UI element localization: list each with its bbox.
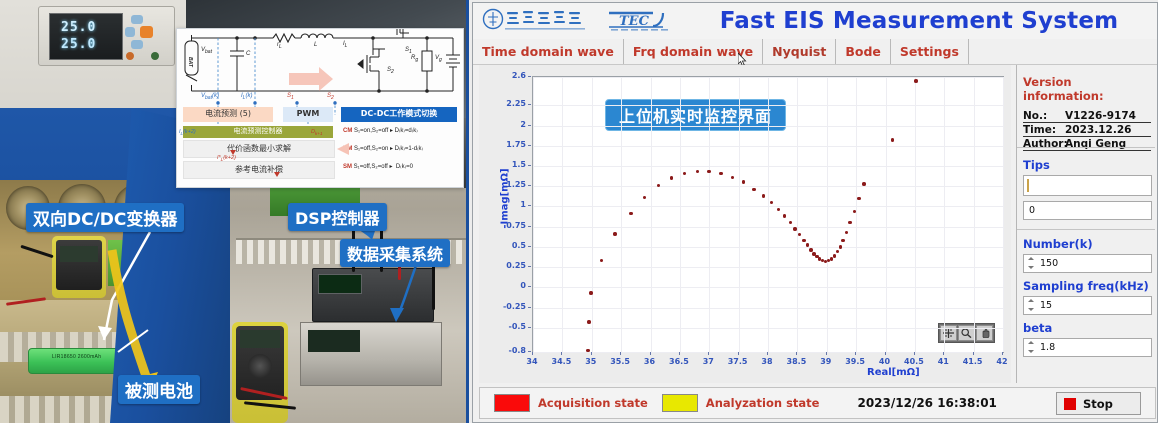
grid-line-vertical (1003, 77, 1004, 352)
spinner-icon[interactable] (1026, 298, 1036, 312)
grid-line-horizontal (533, 267, 1003, 268)
nyquist-plot-panel: -Imag[mΩ] 上位机实时监控界面 (479, 65, 1011, 383)
settings-sidebar: Version information: No.: V1226-9174 Tim… (1016, 65, 1155, 383)
tips-secondary-value: 0 (1024, 205, 1035, 216)
data-point (848, 221, 852, 225)
x-axis-tick-mark (738, 352, 739, 355)
lab-setup-photo: 25.0 25.0 LIR18650 2600mAh (0, 0, 466, 423)
grid-line-vertical (915, 77, 916, 352)
grid-line-vertical (709, 77, 710, 352)
grid-line-vertical (680, 77, 681, 352)
grid-line-vertical (768, 77, 769, 352)
grid-line-horizontal (533, 146, 1003, 147)
x-axis-tick-label: 38.5 (782, 357, 810, 366)
y-axis-tick-mark (528, 246, 531, 247)
y-axis-tick-mark (528, 266, 531, 267)
acquisition-state-label: Acquisition state (538, 396, 648, 410)
eis-software-window: TEC Fast EIS Measurement System Time dom… (466, 0, 1158, 423)
data-point (719, 172, 723, 176)
x-axis-tick-label: 39.5 (841, 357, 869, 366)
sampling-freq-input[interactable]: 15 (1023, 296, 1152, 315)
data-point (731, 176, 735, 180)
y-axis-tick-mark (528, 104, 531, 105)
beta-value: 1.8 (1040, 342, 1055, 353)
y-axis-tick-label: 1.75 (479, 140, 526, 149)
y-axis-tick-mark (528, 76, 531, 77)
tab-bar[interactable]: Time domain wave Frq domain wave Nyquist… (473, 39, 1157, 65)
y-axis-tick-mark (528, 327, 531, 328)
grid-line-vertical (944, 77, 945, 352)
bench-multimeter-screen (240, 330, 280, 348)
spinner-icon[interactable] (1026, 340, 1036, 354)
version-key-author: Author: (1023, 138, 1065, 150)
spinner-icon[interactable] (1026, 256, 1036, 270)
grid-line-vertical (621, 77, 622, 352)
grid-line-vertical (739, 77, 740, 352)
data-point (683, 172, 687, 176)
y-axis-tick-label: 1.5 (479, 160, 526, 169)
y-axis-tick-label: 0.25 (479, 261, 526, 270)
y-axis-tick-mark (528, 226, 531, 227)
x-axis-tick-mark (532, 352, 533, 355)
grid-line-vertical (533, 77, 534, 352)
screenshot-root: 25.0 25.0 LIR18650 2600mAh (0, 0, 1158, 423)
x-axis-tick-label: 34.5 (547, 357, 575, 366)
param-label-number: Number(k) (1023, 237, 1151, 251)
y-axis-tick-mark (528, 145, 531, 146)
grid-line-vertical (856, 77, 857, 352)
number-k-value: 150 (1040, 258, 1058, 269)
data-point (589, 291, 593, 295)
y-axis-tick-mark (528, 185, 531, 186)
x-axis-tick-mark (591, 352, 592, 355)
x-axis-tick-label: 35 (577, 357, 605, 366)
x-axis-tick-label: 37 (694, 357, 722, 366)
x-axis-tick-mark (1002, 352, 1003, 355)
grid-line-vertical (592, 77, 593, 352)
battery-cell-print: LIR18650 2600mAh (52, 354, 101, 360)
stop-button-label: Stop (1083, 397, 1113, 411)
y-axis-tick-label: -0.8 (479, 346, 526, 355)
data-point (777, 208, 781, 212)
y-axis-tick-label: 1.25 (479, 180, 526, 189)
x-axis-tick-mark (767, 352, 768, 355)
data-point (914, 79, 918, 83)
x-axis-tick-mark (679, 352, 680, 355)
grid-line-horizontal (533, 227, 1003, 228)
data-point (789, 221, 793, 225)
controller-indicator-1 (126, 52, 134, 60)
beta-input[interactable]: 1.8 (1023, 338, 1152, 357)
data-point (783, 214, 787, 218)
data-point (629, 212, 633, 216)
param-label-sampling-freq: Sampling freq(kHz) (1023, 279, 1151, 293)
acquisition-state-indicator (494, 394, 530, 412)
x-axis-tick-label: 42 (988, 357, 1016, 366)
stop-button[interactable]: Stop (1056, 392, 1141, 415)
data-point (802, 239, 806, 243)
version-row-time: Time: 2023.12.26 (1023, 124, 1151, 137)
stop-square-icon (1064, 398, 1076, 410)
x-axis-tick-label: 41.5 (959, 357, 987, 366)
data-point (613, 232, 617, 236)
data-point (845, 231, 849, 235)
y-axis-tick-mark (528, 165, 531, 166)
y-axis-tick-mark (528, 125, 531, 126)
data-point (586, 349, 590, 353)
y-axis-tick-label: -0.25 (479, 302, 526, 311)
tips-caret-icon (1027, 179, 1029, 192)
data-point (836, 250, 840, 254)
label-data-acquisition-system: 数据采集系统 (340, 239, 450, 267)
grid-line-vertical (651, 77, 652, 352)
app-header: TEC Fast EIS Measurement System (473, 3, 1157, 40)
y-axis-tick-mark (528, 307, 531, 308)
y-axis-tick-mark (528, 205, 531, 206)
grid-line-horizontal (533, 105, 1003, 106)
data-point (587, 320, 591, 324)
daq-instrument-display (308, 330, 360, 352)
tab-bode[interactable]: Bode (836, 39, 891, 64)
plot-toolbar[interactable] (938, 323, 995, 343)
tec-center-logo-icon: TEC (607, 8, 699, 34)
control-diagram-overlay: BAT Vbat C rL L IL S2 S1 Rg Vg Vbat(k) I… (176, 28, 464, 188)
grid-line-horizontal (533, 328, 1003, 329)
grid-line-horizontal (533, 308, 1003, 309)
status-bar: Acquisition state Analyzation state 2023… (479, 387, 1156, 419)
x-axis-tick-mark (943, 352, 944, 355)
controller-left-button (125, 27, 135, 37)
chamber-multimeter-screen (60, 246, 98, 262)
x-axis-tick-label: 37.5 (724, 357, 752, 366)
data-point (833, 254, 837, 258)
y-axis-label: -Imag[mΩ] (500, 168, 511, 228)
x-axis-tick-mark (650, 352, 651, 355)
data-point (841, 239, 845, 243)
data-point (600, 259, 604, 263)
data-point (839, 245, 843, 249)
y-axis-tick-label: 2.6 (479, 71, 526, 80)
version-key-no: No.: (1023, 110, 1065, 122)
tab-settings[interactable]: Settings (891, 39, 969, 64)
version-value-no: V1226-9174 (1065, 110, 1136, 122)
battery-cell (28, 348, 125, 374)
diagram-connectors (177, 29, 463, 187)
data-point (696, 170, 700, 174)
analyzation-state-label: Analyzation state (706, 396, 820, 410)
x-axis-tick-label: 36 (636, 357, 664, 366)
y-axis-tick-label: 2 (479, 120, 526, 129)
controller-enter-button (140, 26, 153, 38)
temperature-controller: 25.0 25.0 (38, 6, 175, 66)
grid-line-horizontal (533, 126, 1003, 127)
label-battery-under-test: 被测电池 (118, 375, 200, 404)
x-axis-tick-label: 38 (753, 357, 781, 366)
tab-nyquist[interactable]: Nyquist (763, 39, 836, 64)
grid-line-vertical (797, 77, 798, 352)
data-point (830, 257, 834, 261)
data-point (891, 138, 895, 142)
data-point (770, 201, 774, 205)
version-value-author: Anqi Geng (1065, 138, 1126, 150)
data-point (707, 170, 711, 174)
x-axis-tick-label: 41 (929, 357, 957, 366)
grid-line-vertical (562, 77, 563, 352)
grid-line-horizontal (533, 166, 1003, 167)
data-point (793, 227, 797, 231)
version-information-header: Version information: (1023, 75, 1151, 103)
university-logo-icon (481, 8, 599, 34)
x-axis-tick-mark (796, 352, 797, 355)
controller-setpoint: 25.0 (61, 20, 96, 35)
version-row-no: No.: V1226-9174 (1023, 110, 1151, 123)
tab-time-domain-wave[interactable]: Time domain wave (473, 39, 624, 64)
label-dsp-controller: DSP控制器 (288, 203, 387, 231)
x-axis-tick-mark (620, 352, 621, 355)
x-axis-tick-mark (885, 352, 886, 355)
y-axis-tick-mark (528, 286, 531, 287)
number-k-input[interactable]: 150 (1023, 254, 1152, 273)
x-axis-tick-mark (973, 352, 974, 355)
x-axis-tick-label: 40.5 (900, 357, 928, 366)
grid-line-vertical (886, 77, 887, 352)
sidebar-divider-1 (1017, 147, 1155, 148)
version-row-author: Author: Anqi Geng (1023, 138, 1151, 151)
param-label-beta: beta (1023, 321, 1151, 335)
version-value-time: 2023.12.26 (1065, 124, 1131, 136)
tips-secondary-input[interactable]: 0 (1023, 201, 1152, 220)
x-axis-tick-mark (826, 352, 827, 355)
data-point (806, 243, 810, 247)
data-point (798, 233, 802, 237)
x-axis-tick-mark (708, 352, 709, 355)
data-point (670, 176, 674, 180)
controller-up-button (131, 15, 143, 24)
data-point (742, 180, 746, 184)
y-axis-tick-label: 0 (479, 281, 526, 290)
grid-line-horizontal (533, 287, 1003, 288)
data-point (862, 182, 866, 186)
sampling-freq-value: 15 (1040, 300, 1052, 311)
grid-line-vertical (974, 77, 975, 352)
data-point (643, 196, 647, 200)
y-axis-tick-label: 0.75 (479, 221, 526, 230)
y-axis-tick-label: -0.5 (479, 322, 526, 331)
x-axis-tick-mark (855, 352, 856, 355)
label-bidirectional-dcdc-converter: 双向DC/DC变换器 (26, 203, 184, 232)
status-timestamp: 2023/12/26 16:38:01 (857, 396, 996, 410)
controller-down-button (131, 40, 143, 49)
y-axis-tick-label: 0.5 (479, 241, 526, 250)
x-axis-tick-label: 34 (518, 357, 546, 366)
x-axis-tick-label: 40 (871, 357, 899, 366)
data-point (762, 194, 766, 198)
grid-line-horizontal (533, 186, 1003, 187)
x-axis-tick-mark (914, 352, 915, 355)
version-key-time: Time: (1023, 124, 1065, 136)
grid-line-horizontal (533, 247, 1003, 248)
x-axis-tick-label: 35.5 (606, 357, 634, 366)
app-client-area: TEC Fast EIS Measurement System Time dom… (472, 2, 1158, 423)
plot-area[interactable]: 上位机实时监控界面 (532, 76, 1004, 353)
y-axis-tick-label: 1 (479, 200, 526, 209)
controller-process-value: 25.0 (61, 37, 96, 52)
page-title: Fast EIS Measurement System (709, 5, 1129, 37)
data-point (857, 197, 861, 201)
tips-input[interactable] (1023, 175, 1152, 196)
sidebar-divider-2 (1017, 229, 1155, 230)
analyzation-state-indicator (662, 394, 698, 412)
x-axis-tick-label: 36.5 (665, 357, 693, 366)
x-axis-label: Real[mΩ] (867, 367, 920, 378)
data-point (752, 188, 756, 192)
x-axis-tick-label: 39 (812, 357, 840, 366)
grid-line-horizontal (533, 352, 1003, 353)
dsp-controller-display (318, 274, 362, 294)
controller-indicator-2 (151, 52, 159, 60)
y-axis-tick-mark (528, 351, 531, 352)
bench-multimeter-dial (248, 354, 272, 378)
y-axis-tick-label: 2.25 (479, 99, 526, 108)
grid-line-horizontal (533, 77, 1003, 78)
grid-line-horizontal (533, 206, 1003, 207)
grid-line-vertical (827, 77, 828, 352)
tips-header: Tips (1023, 158, 1151, 172)
x-axis-tick-mark (561, 352, 562, 355)
